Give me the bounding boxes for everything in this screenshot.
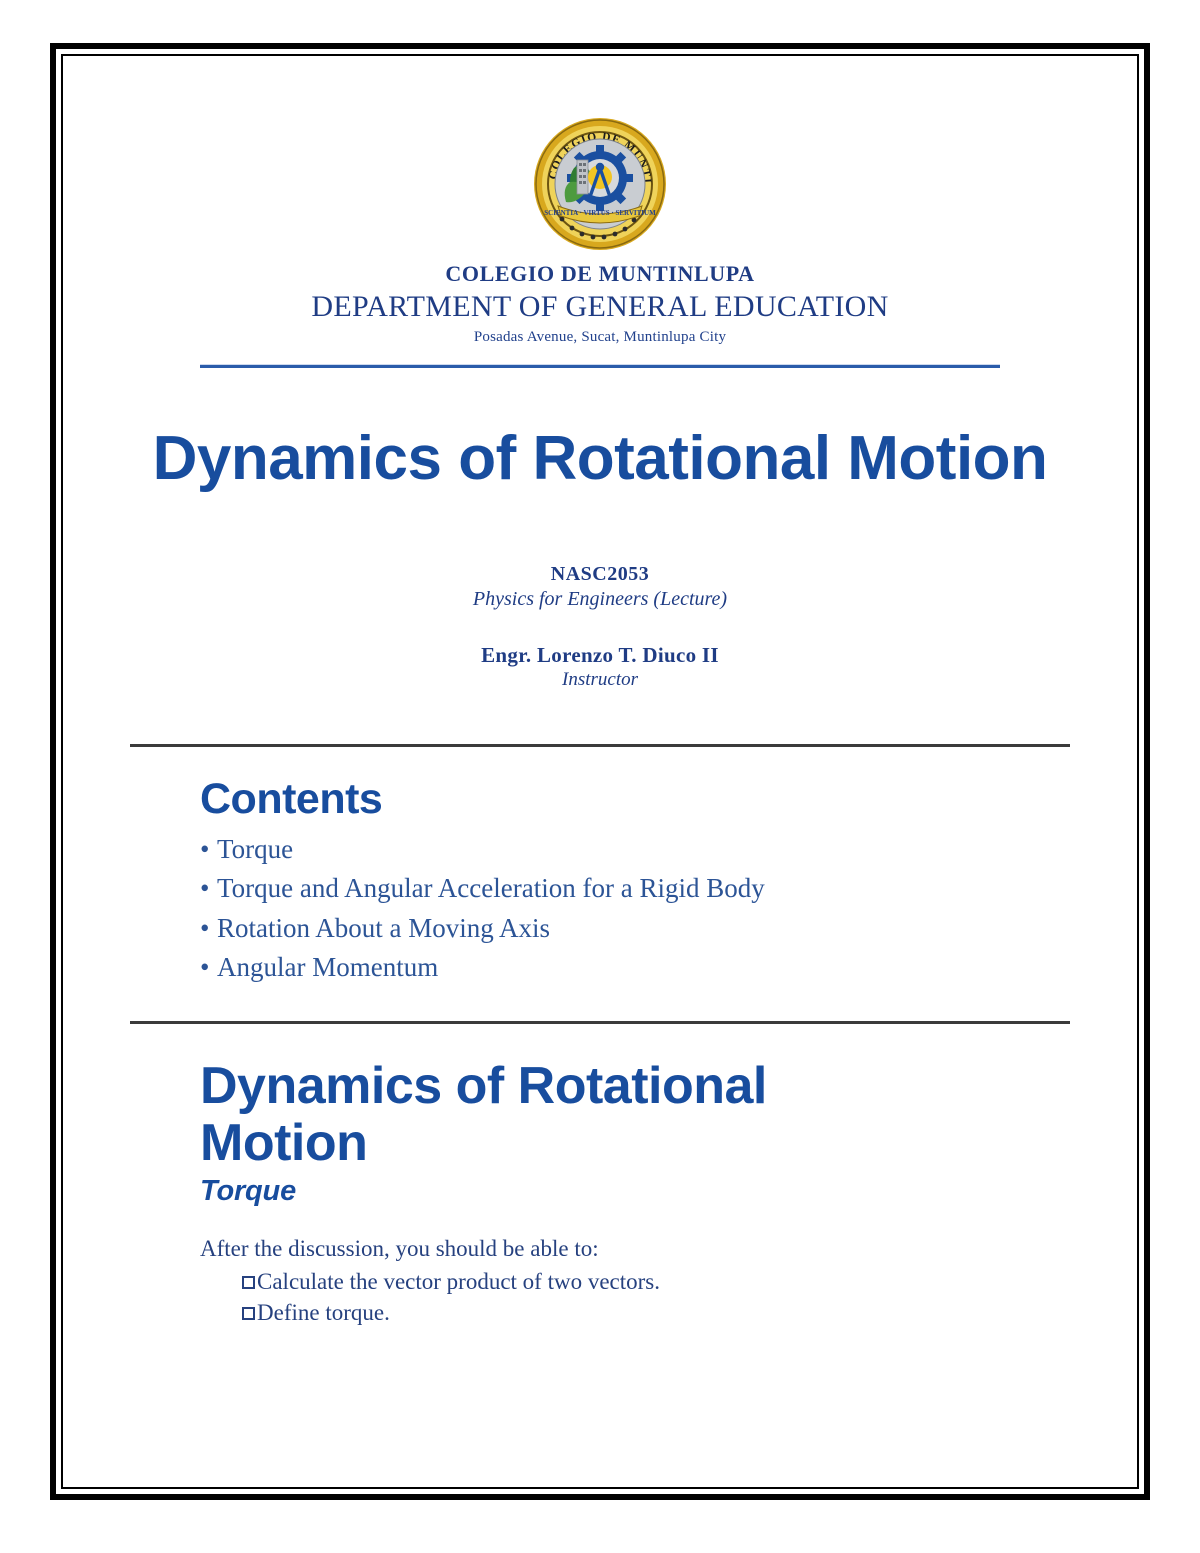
lesson-section: Dynamics of Rotational Motion Torque Aft… xyxy=(61,1058,1139,1329)
contents-item-label: Angular Momentum xyxy=(217,952,438,982)
objectives-list: Calculate the vector product of two vect… xyxy=(200,1266,1099,1329)
empty-checkbox-icon xyxy=(242,1276,255,1289)
empty-checkbox-icon xyxy=(242,1307,255,1320)
objective-label: Calculate the vector product of two vect… xyxy=(257,1269,660,1294)
contents-section: Contents •Torque •Torque and Angular Acc… xyxy=(61,777,1139,988)
letterhead-divider xyxy=(200,364,1000,368)
contents-item-label: Torque and Angular Acceleration for a Ri… xyxy=(217,873,765,903)
list-item: •Torque and Angular Acceleration for a R… xyxy=(200,869,1099,908)
contents-heading: Contents xyxy=(200,777,1099,822)
bullet-icon: • xyxy=(200,830,217,869)
school-seal-icon: COLEGIO DE MUNTINLUPA xyxy=(532,116,668,252)
contents-divider-bottom xyxy=(130,1021,1070,1024)
svg-text:SCIENTIA · VIRTUS · SERVITIUM: SCIENTIA · VIRTUS · SERVITIUM xyxy=(544,209,656,217)
letterhead: COLEGIO DE MUNTINLUPA xyxy=(61,54,1139,368)
contents-item-label: Torque xyxy=(217,834,293,864)
school-name: COLEGIO DE MUNTINLUPA xyxy=(61,260,1139,288)
list-item: •Torque xyxy=(200,830,1099,869)
objective-label: Define torque. xyxy=(257,1300,390,1325)
contents-list: •Torque •Torque and Angular Acceleration… xyxy=(200,830,1099,988)
document-page: COLEGIO DE MUNTINLUPA xyxy=(0,0,1200,1553)
department-name: DEPARTMENT OF GENERAL EDUCATION xyxy=(61,289,1139,325)
list-item: •Rotation About a Moving Axis xyxy=(200,909,1099,948)
list-item: •Angular Momentum xyxy=(200,948,1099,987)
bullet-icon: • xyxy=(200,948,217,987)
course-title: Physics for Engineers (Lecture) xyxy=(61,588,1139,611)
school-address: Posadas Avenue, Sucat, Muntinlupa City xyxy=(61,329,1139,346)
instructor-role: Instructor xyxy=(61,669,1139,691)
instructor-name: Engr. Lorenzo T. Diuco II xyxy=(61,643,1139,668)
bullet-icon: • xyxy=(200,869,217,908)
list-item: Calculate the vector product of two vect… xyxy=(242,1266,1099,1298)
bullet-icon: • xyxy=(200,909,217,948)
list-item: Define torque. xyxy=(242,1297,1099,1329)
course-info-block: NASC2053 Physics for Engineers (Lecture)… xyxy=(61,563,1139,691)
lesson-title: Dynamics of Rotational Motion xyxy=(200,1058,860,1170)
lesson-subtitle: Torque xyxy=(200,1175,1099,1208)
cover-title: Dynamics of Rotational Motion xyxy=(61,426,1139,491)
contents-divider-top xyxy=(130,744,1070,747)
contents-item-label: Rotation About a Moving Axis xyxy=(217,913,550,943)
course-code: NASC2053 xyxy=(61,563,1139,586)
objectives-intro: After the discussion, you should be able… xyxy=(200,1234,1099,1264)
page-content: COLEGIO DE MUNTINLUPA xyxy=(61,54,1139,1489)
